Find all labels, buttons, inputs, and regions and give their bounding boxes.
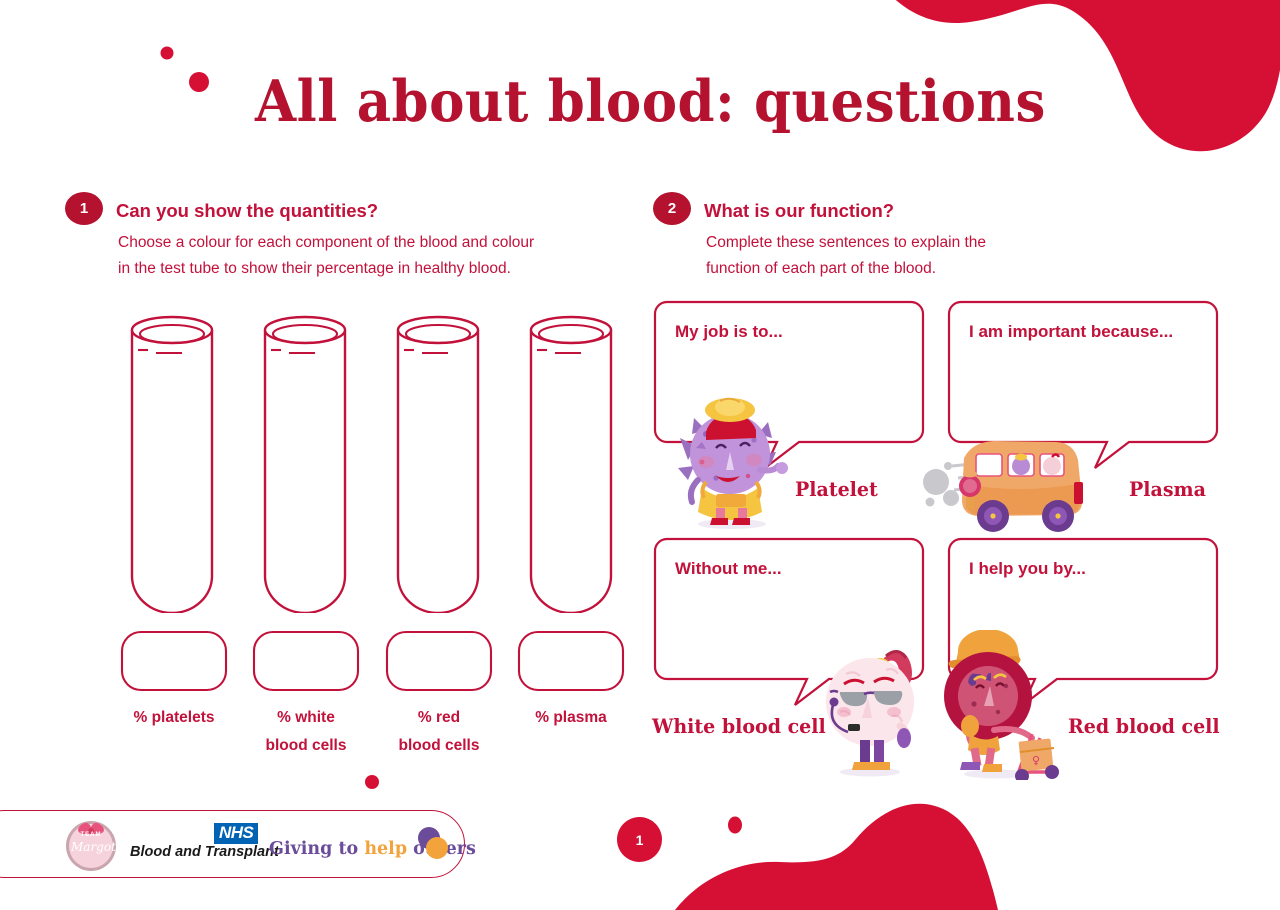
giving-text-2: others [407, 839, 476, 859]
footer-dot [363, 772, 383, 792]
giving-text-help: help [364, 839, 407, 859]
speech-bubble-prompt-platelet: My job is to... [675, 322, 783, 342]
character-label-plasma: Plasma [1129, 477, 1206, 501]
answer-box-red-blood-cells[interactable] [385, 630, 493, 692]
answer-box-white-blood-cells[interactable] [252, 630, 360, 692]
question-badge-1: 1 [65, 192, 103, 225]
speech-bubble-prompt-white-blood-cell: Without me... [675, 559, 782, 579]
question-body-1-line1: Choose a colour for each component of th… [118, 230, 534, 256]
worksheet-page: All about blood: questions 1 Can you sho… [0, 0, 1280, 905]
bottom-right-blood-blob [640, 800, 1280, 910]
question-body-2-line1: Complete these sentences to explain the [706, 230, 986, 256]
giving-text-1: Giving to [269, 839, 364, 859]
blood-and-transplant-text: Blood and Transplant [130, 844, 279, 860]
top-left-dots [145, 35, 240, 115]
answer-box-platelets[interactable] [120, 630, 228, 692]
test-tube-red-blood-cells[interactable] [386, 308, 490, 613]
svg-text:♀: ♀ [1032, 754, 1040, 767]
team-margot-team-text: TEAM [71, 832, 111, 838]
tube-label-plasma-line1: % plasma [486, 704, 656, 732]
nhs-logo: NHS [214, 823, 258, 844]
question-badge-2: 2 [653, 192, 691, 225]
test-tube-platelets[interactable] [120, 308, 224, 613]
character-label-red-blood-cell: Red blood cell [1068, 714, 1220, 738]
question-heading-1: Can you show the quantities? [116, 200, 378, 222]
character-label-white-blood-cell: White blood cell [652, 714, 826, 738]
answer-box-plasma[interactable] [517, 630, 625, 692]
speech-bubble-prompt-red-blood-cell: I help you by... [969, 559, 1086, 579]
question-body-2-line2: function of each part of the blood. [706, 256, 936, 282]
character-label-platelet: Platelet [795, 477, 878, 501]
team-margot-margot-text: Margot [71, 840, 111, 854]
question-body-1-line2: in the test tube to show their percentag… [118, 256, 511, 282]
giving-to-help-others-tagline: Giving to help others [269, 839, 476, 859]
test-tube-white-blood-cells[interactable] [253, 308, 357, 613]
page-number-badge: 1 [617, 817, 662, 862]
speech-bubble-prompt-plasma: I am important because... [969, 322, 1173, 342]
page-title: All about blood: questions [255, 68, 1046, 135]
question-heading-2: What is our function? [704, 200, 894, 222]
tube-label-red-blood-cells-line2: blood cells [354, 732, 524, 760]
test-tube-plasma[interactable] [519, 308, 623, 613]
